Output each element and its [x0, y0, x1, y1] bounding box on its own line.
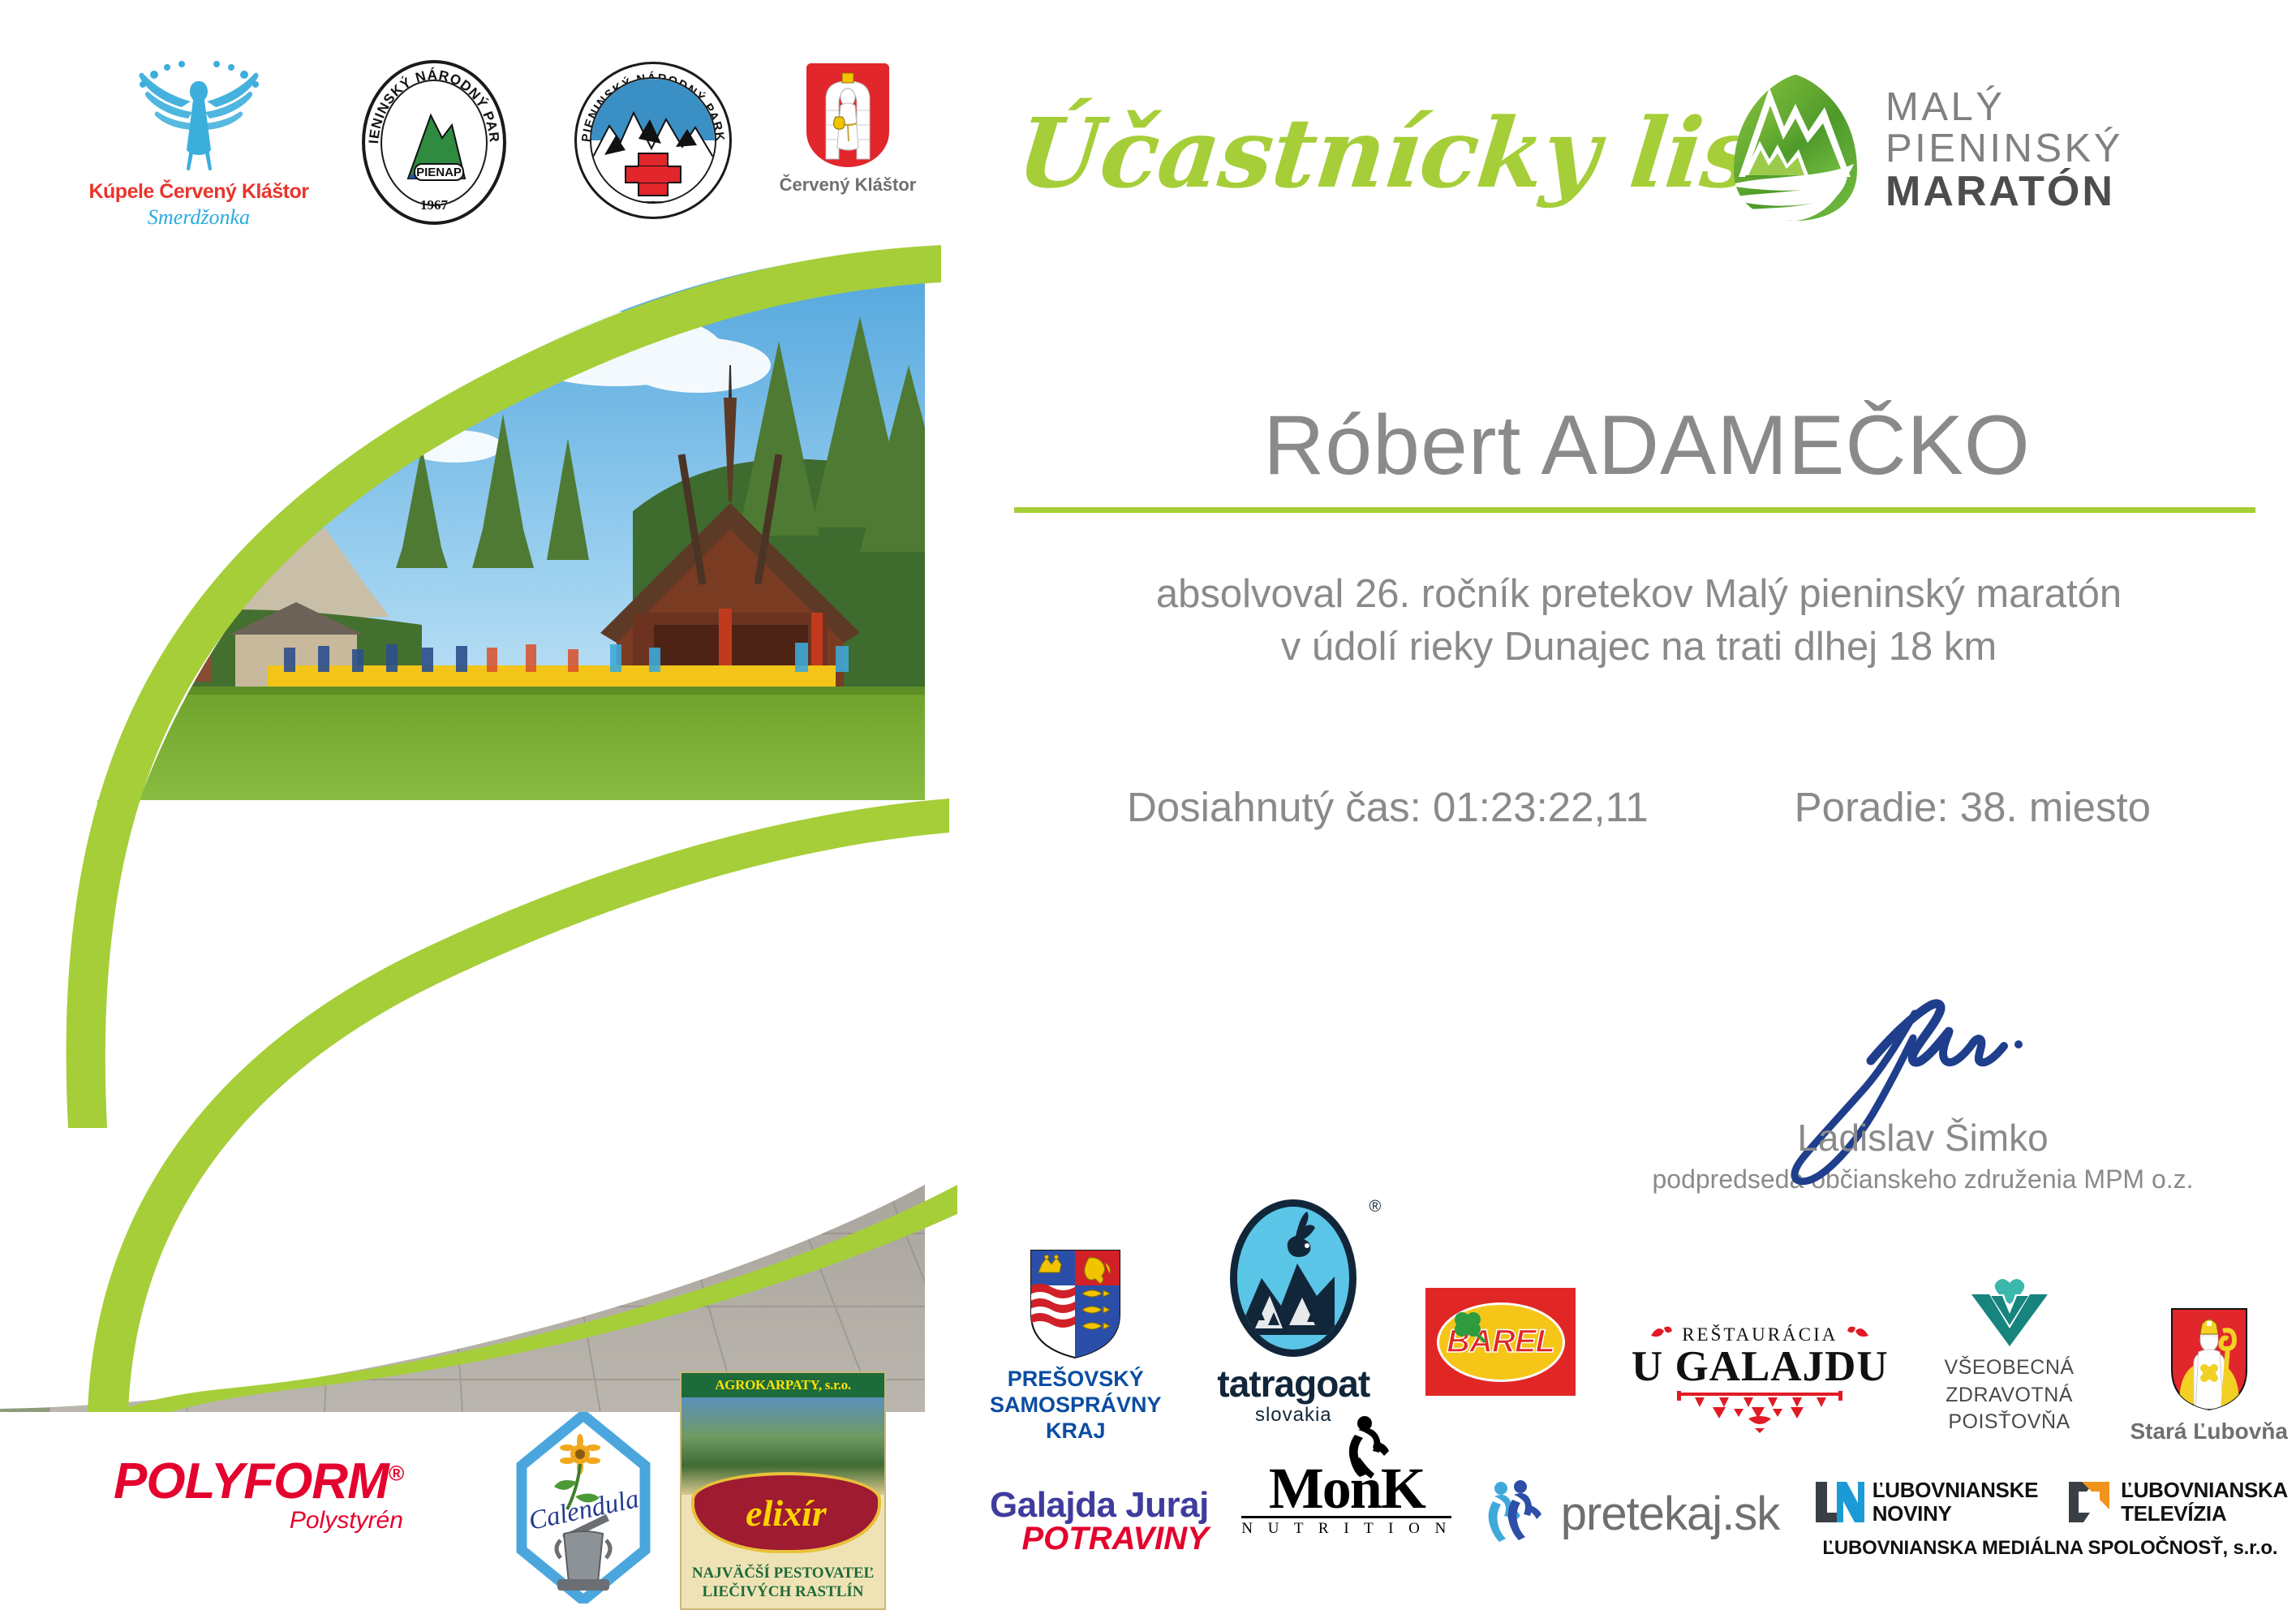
elixir-badge: elixír: [691, 1472, 881, 1553]
top-partner-logo-row: Kúpele Červený Kláštor Smerdžonka PIENIN…: [81, 57, 949, 243]
partner-name-kupele: Kúpele Červený Kláštor: [88, 180, 308, 204]
psk-coat-of-arms-icon: [1029, 1248, 1122, 1360]
u-galajdu-folk-ornament-icon: [1670, 1391, 1849, 1433]
sponsor-barel: BAREL: [1425, 1288, 1576, 1396]
signatory-name: Ladislav Šimko: [1590, 1116, 2255, 1160]
pienap-oval-seal-icon: PIENINSKÝ NÁRODNÝ PARK PIENAP 1967: [362, 60, 506, 225]
sponsor-name-pretekaj: pretekaj.sk: [1561, 1487, 1779, 1541]
finish-time-label: Dosiahnutý čas:: [1127, 784, 1421, 830]
partner-logo-horska-sluzba: PIENINSKÝ NÁRODNÝ PARK HORSKÁ SLUŽBA: [552, 57, 755, 219]
runner-234: 234: [800, 844, 858, 1138]
sponsor-sub-nutrition: N U T R I T I O N: [1241, 1516, 1451, 1538]
agrokarpaty-bottom-label: NAJVÄČŠÍ PESTOVATEĽ LIEČIVÝCH RASTLÍN: [681, 1564, 884, 1603]
registered-mark-icon: ®: [1369, 1198, 1381, 1216]
ln-mark-icon: [1812, 1479, 1864, 1526]
agrokarpaty-bottom-line-2: LIEČIVÝCH RASTLÍN: [681, 1582, 884, 1602]
sponsor-stara-lubovna: Stará Ľubovňa: [2130, 1307, 2287, 1444]
mountain-rescue-inner: [590, 77, 716, 204]
vzp-caption: VŠEOBECNÁ ZDRAVOTNÁ POISŤOVŇA: [1944, 1354, 2074, 1436]
monk-nutrition-runner-icon: [1331, 1414, 1405, 1479]
sponsor-name-u-galajdu: U GALAJDU: [1632, 1342, 1889, 1391]
rank-label: Poradie:: [1795, 784, 1949, 830]
sponsor-sub-polyform: Polystyrén: [114, 1507, 403, 1535]
brand-line-1: MALÝ: [1885, 87, 2123, 128]
vzp-line-3: POISŤOVŇA: [1944, 1409, 2074, 1436]
sponsor-sub-tatragoat: slovakia: [1255, 1404, 1332, 1427]
sponsor-u-galajdu: REŠTAURÁCIA U GALAJDU: [1632, 1324, 1889, 1433]
rank-value: 38. miesto: [1960, 784, 2151, 830]
vzp-chevron-heart-icon: [1967, 1278, 2053, 1346]
pienap-inner-emblem: PIENAP: [381, 80, 488, 206]
leaf-mountain-icon: [1724, 73, 1866, 227]
pretekaj-runners-icon: [1485, 1479, 1550, 1548]
sponsor-name-galajda-juraj: Galajda Juraj: [990, 1485, 1209, 1526]
sponsor-presovsky-samospravny-kraj: PREŠOVSKÝ SAMOSPRÁVNY KRAJ: [990, 1248, 1162, 1444]
mountain-rescue-seal-icon: PIENINSKÝ NÁRODNÝ PARK HORSKÁ SLUŽBA: [574, 62, 732, 219]
sponsor-vseobecna-zdravotna-poistovna: VŠEOBECNÁ ZDRAVOTNÁ POISŤOVŇA: [1944, 1278, 2074, 1436]
vzp-line-2: ZDRAVOTNÁ: [1944, 1382, 2074, 1410]
registered-mark-icon: ®: [389, 1461, 403, 1485]
certificate-description: absolvoval 26. ročník pretekov Malý pien…: [1014, 568, 2264, 673]
lt-line-1: ĽUBOVNIANSKA: [2121, 1479, 2288, 1502]
vzp-line-1: VŠEOBECNÁ: [1944, 1354, 2074, 1382]
signature-block: Ladislav Šimko podpredseda občianskeho z…: [1590, 994, 2255, 1195]
svg-text:249: 249: [326, 925, 360, 948]
lubovnianska-televizia: ĽUBOVNIANSKA TELEVÍZIA: [2066, 1479, 2288, 1526]
runner-249: 249: [316, 835, 372, 1125]
lubovnianske-noviny: ĽUBOVNIANSKE NOVINY: [1812, 1479, 2038, 1526]
psk-line-2: SAMOSPRÁVNY: [990, 1393, 1162, 1419]
sponsor-row-1: PREŠOVSKÝ SAMOSPRÁVNY KRAJ ®: [990, 1242, 2288, 1444]
finish-time: Dosiahnutý čas: 01:23:22,11: [1127, 783, 1649, 831]
svg-text:209: 209: [127, 1011, 163, 1035]
finish-time-value: 01:23:22,11: [1433, 784, 1649, 830]
partner-sub-smerdzonka: Smerdžonka: [148, 205, 250, 230]
partner-logo-kupele-cerveny-klastor: Kúpele Červený Kláštor Smerdžonka: [81, 57, 316, 230]
result-row: Dosiahnutý čas: 01:23:22,11 Poradie: 38.…: [1014, 783, 2264, 831]
description-line-1: absolvoval 26. ročník pretekov Malý pien…: [1014, 568, 2264, 621]
sponsor-name-polyform: POLYFORM: [114, 1453, 389, 1509]
svg-text:PIENAP: PIENAP: [416, 166, 462, 179]
partner-name-cerveny-klastor: Červený Kláštor: [780, 174, 917, 196]
sponsor-name-tatragoat: tatragoat: [1217, 1362, 1369, 1406]
sponsor-polyform: POLYFORM® Polystyrén: [114, 1453, 403, 1535]
brand-logo-maly-pieninsky-maraton: MALÝ PIENINSKÝ MARATÓN: [1724, 73, 2123, 227]
sponsor-name-stara-lubovna: Stará Ľubovňa: [2130, 1419, 2287, 1444]
brand-line-2: PIENINSKÝ: [1885, 128, 2123, 170]
sponsor-name-elixir: elixír: [746, 1492, 827, 1535]
sponsor-sub-potraviny: POTRAVINY: [1021, 1521, 1208, 1557]
agrokarpaty-bottom-line-1: NAJVÄČŠÍ PESTOVATEĽ: [681, 1564, 884, 1583]
sponsor-pretekaj-sk: pretekaj.sk: [1485, 1479, 1779, 1548]
sponsor-tatragoat: ® tatragoat slovakia: [1217, 1199, 1369, 1427]
svg-text:234: 234: [811, 951, 845, 974]
svg-text:74: 74: [234, 988, 256, 1010]
recipient-name: Róbert ADAMEČKO: [1030, 398, 2264, 494]
psk-caption: PREŠOVSKÝ SAMOSPRÁVNY KRAJ: [990, 1367, 1162, 1444]
sponsor-calendula: Calendula: [499, 1408, 669, 1611]
pienap-year: 1967: [365, 197, 503, 213]
tatragoat-chamois-icon: [1230, 1199, 1357, 1357]
sponsor-galajda-juraj: Galajda Juraj POTRAVINY: [990, 1485, 1209, 1557]
psk-line-1: PREŠOVSKÝ: [990, 1367, 1162, 1393]
sponsor-lubovnianska-medialna-spolocnost: ĽUBOVNIANSKE NOVINY ĽUBOVNIANSKA TELEVÍZ…: [1812, 1479, 2288, 1560]
partner-logo-pienap: PIENINSKÝ NÁRODNÝ PARK PIENAP 1967: [316, 57, 552, 225]
angel-water-wings-icon: [112, 57, 286, 179]
lt-line-2: TELEVÍZIA: [2121, 1502, 2288, 1526]
certificate-page: Kúpele Červený Kláštor Smerdžonka PIENIN…: [0, 0, 2296, 1623]
agrokarpaty-top-label: AGROKARPATY, s.r.o. PLAVNICA: [681, 1373, 884, 1397]
rank: Poradie: 38. miesto: [1795, 783, 2151, 831]
psk-line-3: KRAJ: [990, 1419, 1162, 1444]
sponsor-monk-nutrition: MonK N U T R I T I O N: [1241, 1461, 1451, 1538]
ln-line-2: NOVINY: [1872, 1502, 2038, 1526]
photo-collage: MALÝ PIENINSKÝ MARATÓN: [0, 243, 957, 1412]
media-company-name: ĽUBOVNIANSKA MEDIÁLNA SPOLOČNOSŤ, s.r.o.: [1822, 1537, 2277, 1560]
divider-rule: [1014, 507, 2255, 513]
brand-line-3: MARATÓN: [1885, 170, 2123, 213]
barel-clover-logo: BAREL: [1425, 1288, 1576, 1396]
svg-text:147: 147: [520, 946, 554, 969]
description-line-2: v údolí rieky Dunajec na trati dlhej 18 …: [1014, 621, 2264, 674]
partner-logo-cerveny-klastor: Červený Kláštor: [755, 57, 941, 196]
ln-line-1: ĽUBOVNIANSKE: [1872, 1479, 2038, 1502]
lt-mark-icon: [2066, 1479, 2113, 1526]
sponsor-row-2: Galajda Juraj POTRAVINY MonK N U T R I T…: [990, 1461, 2288, 1615]
stara-lubovna-coat-of-arms-icon: [2169, 1307, 2249, 1412]
clover-icon: [1451, 1310, 1486, 1344]
coat-of-arms-monk-icon: [806, 63, 889, 167]
sponsor-agrokarpaty-elixir: AGROKARPATY, s.r.o. PLAVNICA elixír NAJV…: [680, 1371, 886, 1610]
svg-text:31: 31: [664, 959, 686, 982]
